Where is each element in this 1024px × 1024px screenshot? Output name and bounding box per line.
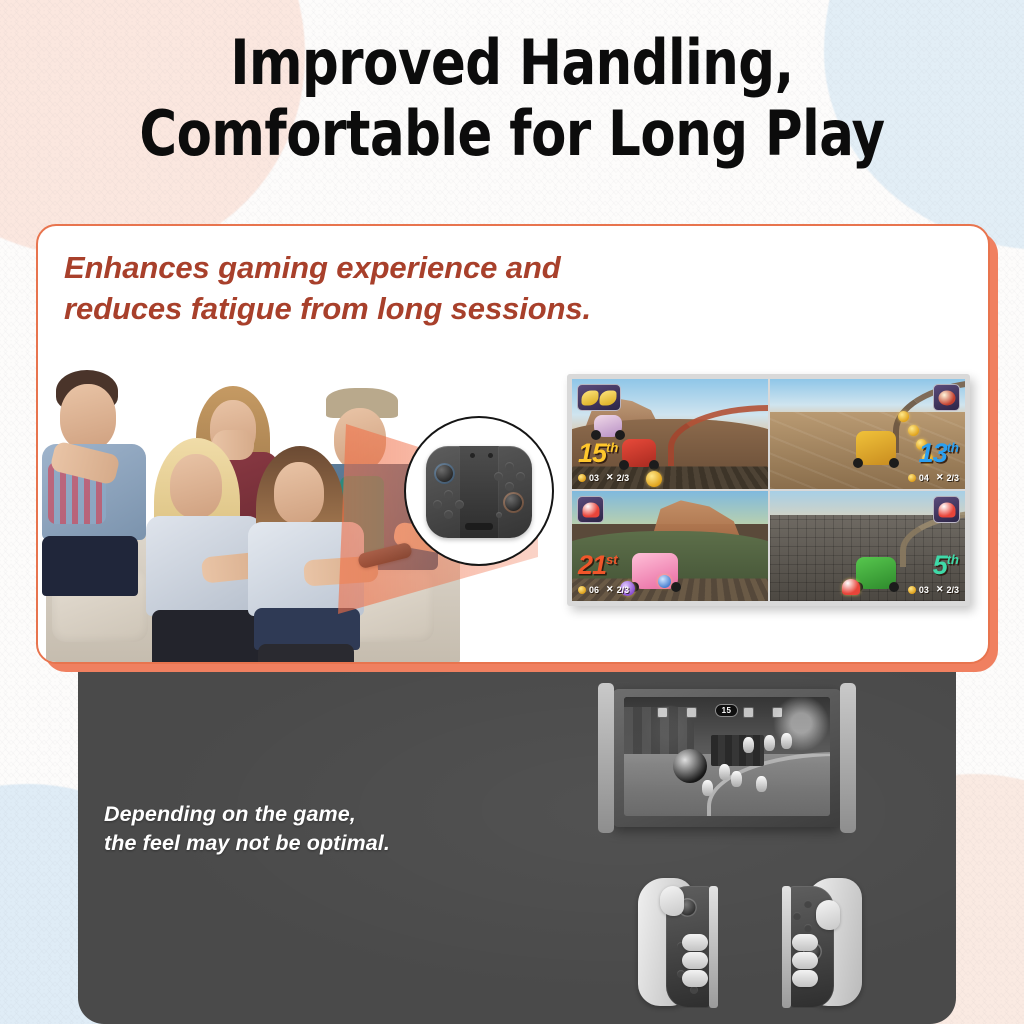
coin-value: 03	[919, 585, 929, 595]
coin-icon	[908, 586, 916, 594]
racer-kart	[856, 431, 896, 465]
racer-kart	[632, 553, 678, 589]
lap-value: 2/3	[946, 585, 959, 595]
left-joycon-rail	[709, 886, 718, 1008]
kart-wheel	[615, 430, 625, 440]
coin	[908, 425, 919, 436]
head	[60, 384, 116, 450]
coin-count: 04	[908, 473, 929, 483]
lap-count: ✕ 2/3	[936, 584, 959, 595]
item-icon-banana	[581, 390, 598, 405]
kart-wheel	[619, 460, 629, 470]
player-rank-number: 13	[919, 438, 947, 468]
right-thumb	[816, 900, 840, 930]
coin	[646, 471, 662, 487]
player-rank-number: 5	[933, 550, 947, 580]
lap-icon: ✕	[936, 472, 944, 483]
player-rank-suffix: st	[606, 552, 618, 567]
grip-bottom-connector	[465, 523, 493, 530]
head	[274, 462, 324, 524]
page-title-line-1: Improved Handling,	[41, 28, 983, 99]
left-finger	[682, 934, 708, 951]
player-stats: 04 ✕ 2/3	[908, 472, 959, 483]
grip-right-stick	[503, 492, 524, 513]
grip-button-a	[516, 472, 525, 481]
lap-count: ✕ 2/3	[936, 472, 959, 483]
player-rank-suffix: th	[606, 440, 618, 455]
grip-button-x	[505, 462, 514, 471]
right-finger	[792, 934, 818, 951]
grip-dpad-down	[444, 510, 453, 519]
kart-wheel	[671, 582, 681, 592]
coin-count: 06	[578, 585, 599, 595]
left-finger	[682, 970, 708, 987]
player-stats: 03 ✕ 2/3	[908, 584, 959, 595]
lap-value: 2/3	[617, 473, 630, 483]
grip-home-button	[496, 512, 502, 518]
player-rank: 21st	[578, 552, 618, 579]
right-finger	[792, 952, 818, 969]
player-stats: 03 ✕ 2/3	[578, 472, 629, 483]
player-rank-suffix: th	[947, 440, 959, 455]
coin-value: 06	[589, 585, 599, 595]
kart-wheel	[889, 582, 899, 592]
grip-button-b	[505, 482, 514, 491]
disclaimer-line-2: the feel may not be optimal.	[104, 829, 390, 858]
item-icon-banana	[600, 390, 617, 405]
disclaimer-note: Depending on the game, the feel may not …	[104, 800, 390, 857]
coin-count: 03	[578, 473, 599, 483]
item-slot	[933, 496, 960, 523]
coin-icon	[578, 474, 586, 482]
player-quadrant-bottom-right: 5th 03 ✕ 2/3	[770, 491, 966, 601]
game-character	[781, 733, 792, 749]
console-screen: 15	[624, 697, 830, 816]
game-character	[756, 776, 767, 792]
people-playing-photo	[38, 366, 468, 664]
grip-top-dot	[470, 453, 475, 458]
nintendo-switch-console: 15	[598, 683, 856, 833]
player-rank: 13th	[919, 440, 959, 467]
lap-count: ✕ 2/3	[606, 472, 629, 483]
kart-wheel	[889, 458, 899, 468]
card-subtitle-line-2: reduces fatigue from long sessions.	[64, 289, 591, 330]
left-thumb	[660, 886, 684, 916]
player-quadrant-bottom-left: 21st 06 ✕ 2/3	[572, 491, 768, 601]
game-character	[719, 764, 730, 780]
game-hud-icon	[686, 707, 697, 718]
item-slot	[577, 384, 621, 411]
lap-icon: ✕	[606, 472, 614, 483]
controller-callout-circle	[404, 416, 554, 566]
player-rank-suffix: th	[947, 552, 959, 567]
grip-dpad-right	[455, 500, 464, 509]
racer-kart	[594, 415, 622, 437]
legs	[42, 536, 138, 596]
player-rank: 5th	[933, 552, 959, 579]
left-capture-button	[690, 986, 698, 994]
head	[170, 454, 222, 518]
joy-con-grip-controller	[426, 446, 532, 538]
game-hud-icon	[743, 707, 754, 718]
right-joycon-rail	[782, 886, 791, 1008]
feature-card: Enhances gaming experience and reduces f…	[36, 224, 990, 664]
player-quadrant-top-right: 13th 04 ✕ 2/3	[770, 379, 966, 489]
item-slot	[577, 496, 604, 523]
lap-value: 2/3	[617, 585, 630, 595]
item-icon-mushroom	[938, 502, 955, 517]
kart-wheel	[649, 460, 659, 470]
right-joycon-button-b	[804, 924, 812, 932]
lap-icon: ✕	[936, 584, 944, 595]
game-character	[731, 771, 742, 787]
player-rank-number: 15	[578, 438, 606, 468]
grip-left-stick	[434, 463, 455, 484]
racer-kart	[622, 439, 656, 467]
kart-wheel	[853, 458, 863, 468]
lap-icon: ✕	[606, 584, 614, 595]
mushroom-item	[842, 579, 860, 595]
right-joycon-button-y	[793, 912, 801, 920]
console-left-joycon-rail	[598, 683, 614, 833]
left-hand	[636, 872, 740, 1022]
split-screen-gameplay: 15th 03 ✕ 2/3	[567, 374, 970, 606]
person-man-left	[42, 370, 152, 590]
coin-icon	[578, 586, 586, 594]
grip-top-dot	[488, 453, 493, 458]
coin-value: 04	[919, 473, 929, 483]
console-right-joycon-rail	[840, 683, 856, 833]
coin	[898, 411, 909, 422]
left-finger	[682, 952, 708, 969]
page-title-line-2: Comfortable for Long Play	[41, 99, 983, 170]
player-quadrant-top-left: 15th 03 ✕ 2/3	[572, 379, 768, 489]
game-hud-counter: 15	[715, 704, 739, 717]
page-title: Improved Handling, Comfortable for Long …	[0, 28, 1024, 169]
coin-icon	[908, 474, 916, 482]
coin-count: 03	[908, 585, 929, 595]
item-icon-shell	[938, 390, 955, 405]
disclaimer-line-1: Depending on the game,	[104, 800, 390, 829]
right-hand	[760, 872, 864, 1022]
game-character	[764, 735, 775, 751]
hands-holding-joycons	[636, 868, 864, 1024]
card-subtitle-line-1: Enhances gaming experience and	[64, 248, 591, 289]
legs	[258, 644, 354, 664]
game-character	[702, 780, 713, 796]
racer-kart	[856, 557, 896, 589]
right-joycon-button-x	[804, 900, 812, 908]
lap-value: 2/3	[946, 473, 959, 483]
player-rank-number: 21	[578, 550, 606, 580]
grip-dpad-left	[433, 500, 442, 509]
right-finger	[792, 970, 818, 987]
game-hud-icon	[657, 707, 668, 718]
player-stats: 06 ✕ 2/3	[578, 584, 629, 595]
game-scene-platform	[711, 735, 765, 766]
grip-dpad-up	[444, 490, 453, 499]
card-subtitle: Enhances gaming experience and reduces f…	[64, 248, 591, 330]
coin-value: 03	[589, 473, 599, 483]
coin	[658, 575, 671, 588]
game-hud-icon	[772, 707, 783, 718]
lap-count: ✕ 2/3	[606, 584, 629, 595]
player-rank: 15th	[578, 440, 618, 467]
item-slot	[933, 384, 960, 411]
item-icon-mushroom	[582, 502, 599, 517]
grip-button-y	[494, 472, 503, 481]
